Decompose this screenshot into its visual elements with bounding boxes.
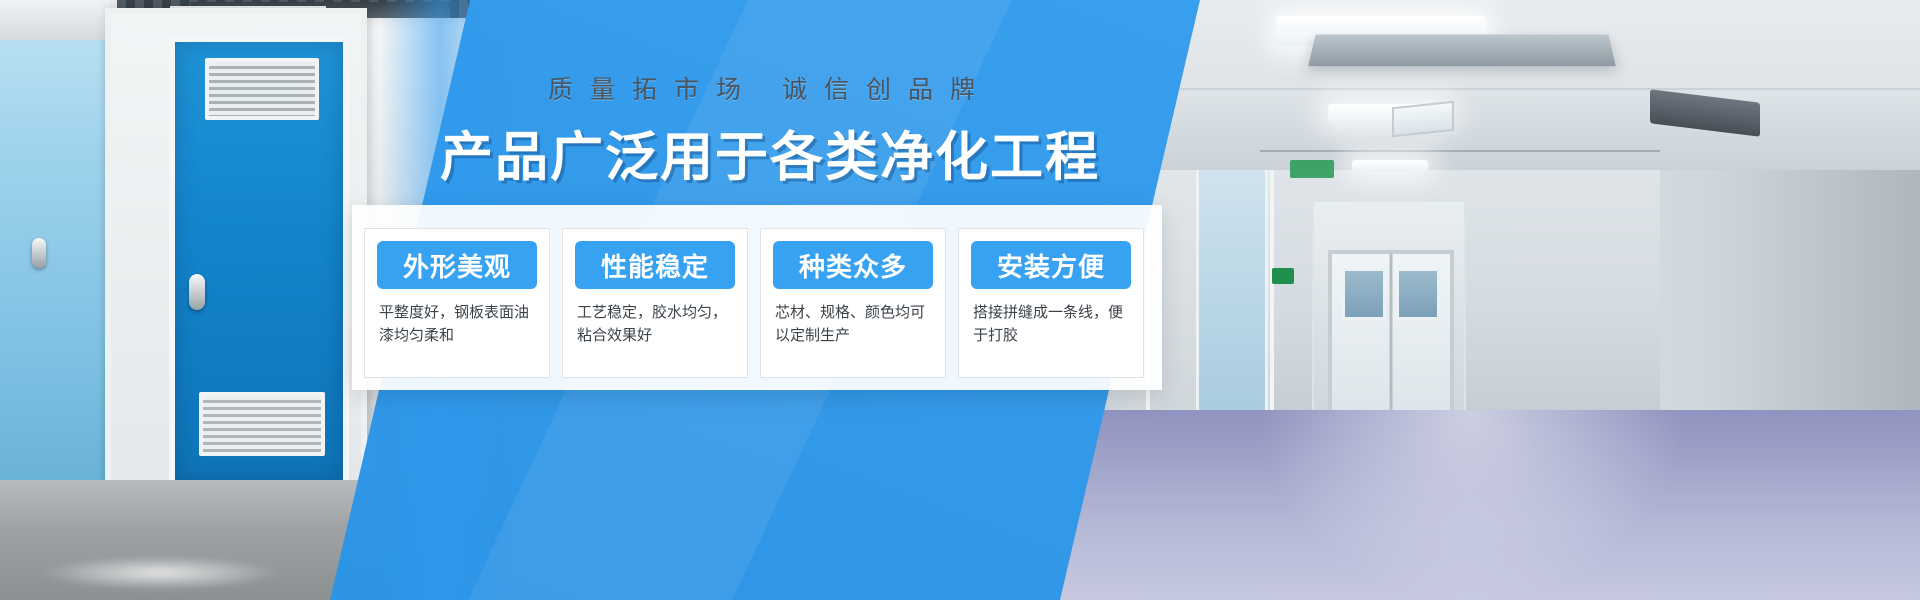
feature-card-2[interactable]: 性能稳定 工艺稳定，胶水均匀，粘合效果好	[562, 228, 748, 378]
right-photo-ceiling-line-1	[1260, 150, 1660, 152]
feature-card-1-title: 外形美观	[377, 241, 537, 289]
right-photo-floor-reflection	[1260, 410, 1680, 600]
feature-card-4[interactable]: 安装方便 搭接拼缝成一条线，便于打胶	[958, 228, 1144, 378]
feature-card-2-body: 工艺稳定，胶水均匀，粘合效果好	[577, 301, 733, 348]
right-photo-air-duct	[1308, 35, 1616, 67]
left-photo-door-handle	[189, 274, 205, 310]
feature-card-2-title: 性能稳定	[575, 241, 735, 289]
feature-card-1[interactable]: 外形美观 平整度好，钢板表面油漆均匀柔和	[364, 228, 550, 378]
left-photo-cabin-a-handle	[32, 238, 46, 268]
feature-card-1-body: 平整度好，钢板表面油漆均匀柔和	[379, 301, 535, 348]
feature-card-4-body: 搭接拼缝成一条线，便于打胶	[973, 301, 1129, 348]
right-photo-green-panel	[1290, 160, 1334, 178]
left-photo-door-vent-bottom	[199, 392, 325, 456]
right-photo-lamp-3	[1352, 160, 1428, 172]
feature-card-3-body: 芯材、规格、颜色均可以定制生产	[775, 301, 931, 348]
feature-card-3[interactable]: 种类众多 芯材、规格、颜色均可以定制生产	[760, 228, 946, 378]
feature-card-list: 外形美观 平整度好，钢板表面油漆均匀柔和 性能稳定 工艺稳定，胶水均匀，粘合效果…	[364, 228, 1154, 378]
promo-banner: 质量拓市场 诚信创品牌 产品广泛用于各类净化工程 外形美观 平整度好，钢板表面油…	[0, 0, 1920, 600]
left-photo-door-vent-top	[205, 58, 319, 120]
right-photo-exit-sign	[1272, 268, 1294, 284]
left-photo-cabin-b-door	[169, 36, 349, 488]
feature-card-3-title: 种类众多	[773, 241, 933, 289]
left-photo-cabin-b	[105, 8, 367, 520]
right-photo-door-window-left	[1342, 268, 1386, 320]
right-photo-door-window-right	[1396, 268, 1440, 320]
left-photo-cabin-a	[0, 0, 117, 520]
feature-card-4-title: 安装方便	[971, 241, 1131, 289]
